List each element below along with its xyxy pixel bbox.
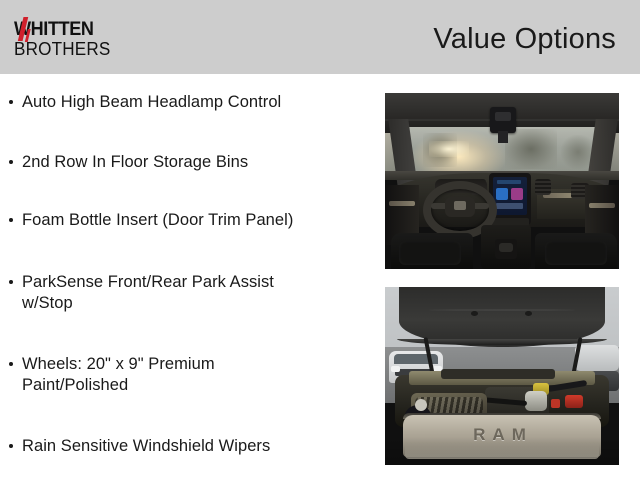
whitten-brothers-logo: WHITTEN BROTHERS <box>14 20 118 60</box>
bottom-shadow <box>385 437 619 465</box>
list-item: ParkSense Front/Rear Park Assist w/Stop <box>0 272 274 314</box>
touchscreen-tile-3 <box>496 203 523 209</box>
logo-line-1: WHITTEN <box>14 20 113 39</box>
list-item-label: 2nd Row In Floor Storage Bins <box>22 153 248 171</box>
list-item-label: Foam Bottle Insert (Door Trim Panel) <box>22 211 293 229</box>
door-trim-left <box>389 201 415 206</box>
slide-header: WHITTEN BROTHERS Value Options <box>0 0 640 74</box>
gear-shifter-knob <box>499 243 513 252</box>
bullet-dot-icon <box>9 444 13 448</box>
rearview-mirror-stem <box>498 131 508 143</box>
list-item: 2nd Row In Floor Storage Bins <box>0 152 248 173</box>
rearview-mirror-lens <box>495 112 511 121</box>
list-item-label-second-line: Paint/Polished <box>22 375 215 396</box>
page-title: Value Options <box>433 23 616 56</box>
bullet-dot-icon <box>9 362 13 366</box>
list-item-label: Wheels: 20" x 9" Premium <box>22 355 215 373</box>
door-trim-right <box>589 203 615 208</box>
driver-seat-cushion <box>399 241 461 265</box>
background-suv-headlight-left <box>391 366 400 372</box>
battery-terminal-cover <box>565 395 583 408</box>
list-item-label: ParkSense Front/Rear Park Assist <box>22 273 274 291</box>
list-item: Wheels: 20" x 9" Premium Paint/Polished <box>0 354 215 396</box>
washer-fluid-cap <box>415 399 427 411</box>
slide: WHITTEN BROTHERS Value Options Auto High… <box>0 0 640 480</box>
air-vent-right <box>535 179 551 195</box>
bullet-dot-icon <box>9 218 13 222</box>
bullet-dot-icon <box>9 100 13 104</box>
coolant-reservoir <box>525 391 547 411</box>
list-item: Auto High Beam Headlamp Control <box>0 92 281 113</box>
list-item-label: Rain Sensitive Windshield Wipers <box>22 437 270 455</box>
open-hood-underside <box>399 287 605 347</box>
background-car-right-upper <box>575 345 619 371</box>
list-item-label-second-line: w/Stop <box>22 293 274 314</box>
steering-wheel-emblem-icon <box>454 201 466 210</box>
hood-dimple-left <box>471 311 478 316</box>
list-item: Rain Sensitive Windshield Wipers <box>0 436 270 457</box>
fuse-box-cap <box>551 399 560 408</box>
logo-text-brothers: BROTHERS <box>14 40 113 59</box>
bullet-dot-icon <box>9 280 13 284</box>
sun-glare <box>429 141 469 157</box>
truck-interior-photo <box>385 93 619 269</box>
hood-dimple-right <box>525 311 532 316</box>
touchscreen-tile-1 <box>496 188 508 200</box>
passenger-seat-cushion <box>545 241 607 265</box>
list-item: Foam Bottle Insert (Door Trim Panel) <box>0 210 293 231</box>
list-item-label: Auto High Beam Headlamp Control <box>22 93 281 111</box>
touchscreen-status-bar <box>497 180 521 184</box>
touchscreen-tile-2 <box>511 188 523 200</box>
bullet-dot-icon <box>9 160 13 164</box>
windshield-tree-center <box>505 129 557 169</box>
hood-crease <box>429 309 575 311</box>
radiator-support-shadow <box>441 369 555 379</box>
engine-bay-photo: RAM <box>385 287 619 465</box>
